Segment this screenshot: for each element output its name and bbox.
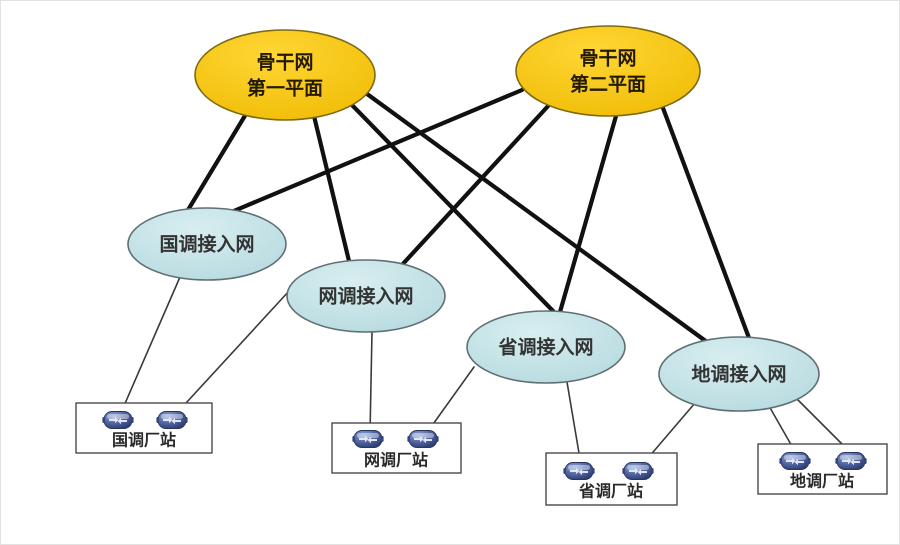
access-network-node: 国调接入网 [128, 208, 286, 280]
router-icon [622, 463, 653, 480]
router-icon [835, 453, 866, 470]
access-network-label: 网调接入网 [318, 286, 413, 308]
router-icon [779, 453, 810, 470]
access-network-label: 省调接入网 [497, 337, 593, 359]
diagram-canvas: 国调厂站网调厂站省调厂站地调厂站 国调接入网网调接入网省调接入网地调接入网 骨干… [0, 0, 900, 545]
station-label: 国调厂站 [112, 431, 176, 450]
access-link [120, 277, 180, 415]
station-group: 省调厂站 [546, 453, 677, 505]
backbone-plane-label-line2: 第二平面 [570, 73, 646, 96]
access-link [370, 332, 372, 434]
station-group: 地调厂站 [758, 444, 887, 494]
access-network-node: 网调接入网 [287, 260, 445, 332]
backbone-link-group [188, 90, 749, 342]
backbone-node-layer: 骨干网第一平面骨干网第二平面 [195, 26, 700, 120]
backbone-link [188, 114, 246, 210]
backbone-link [314, 116, 349, 261]
backbone-link [401, 105, 549, 266]
access-node-layer: 国调接入网网调接入网省调接入网地调接入网 [128, 208, 819, 411]
backbone-plane-label-line1: 骨干网 [256, 52, 313, 74]
station-group: 网调厂站 [332, 423, 461, 473]
access-network-label: 地调接入网 [691, 363, 786, 386]
access-network-node: 省调接入网 [467, 311, 625, 383]
access-network-node: 地调接入网 [659, 337, 819, 411]
station-group-layer: 国调厂站网调厂站省调厂站地调厂站 [76, 403, 887, 505]
station-group: 国调厂站 [76, 403, 212, 453]
router-icon [102, 412, 133, 429]
backbone-link [663, 108, 749, 338]
router-icon [407, 431, 438, 448]
router-icon [156, 412, 187, 429]
backbone-plane-node: 骨干网第二平面 [516, 26, 700, 116]
station-label: 省调厂站 [578, 482, 643, 501]
backbone-plane-node: 骨干网第一平面 [195, 30, 375, 120]
router-icon [352, 431, 383, 448]
backbone-link [560, 116, 616, 312]
access-network-label: 国调接入网 [159, 234, 254, 256]
backbone-plane-ellipse [195, 30, 375, 120]
backbone-plane-ellipse [516, 26, 700, 116]
router-icon [563, 463, 594, 480]
access-link [175, 278, 301, 415]
network-topology-diagram: 国调厂站网调厂站省调厂站地调厂站 国调接入网网调接入网省调接入网地调接入网 骨干… [1, 1, 900, 545]
station-label: 网调厂站 [364, 451, 428, 470]
station-label: 地调厂站 [790, 472, 854, 491]
backbone-plane-label-line1: 骨干网 [579, 48, 636, 70]
backbone-plane-label-line2: 第一平面 [247, 77, 323, 100]
